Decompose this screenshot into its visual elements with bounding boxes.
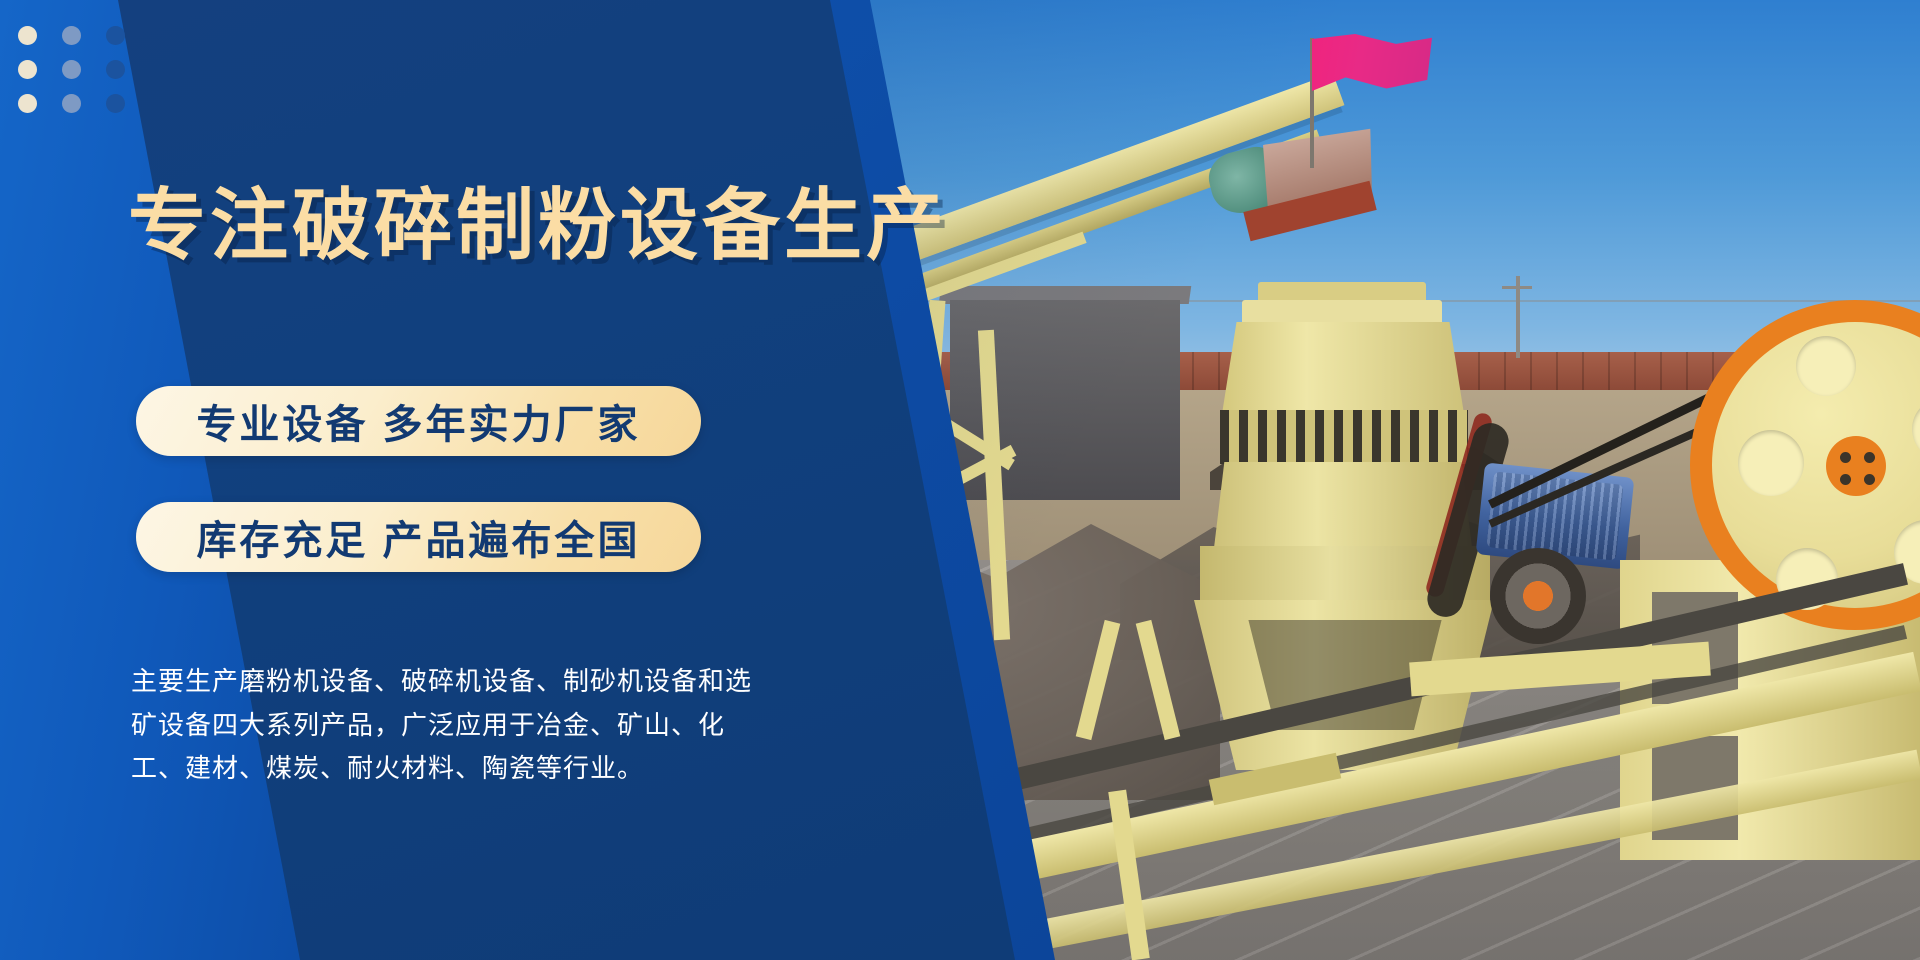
feature-pill-2-label: 库存充足 产品遍布全国: [196, 508, 640, 566]
promo-banner: 专注破碎制粉设备生产 专业设备 多年实力厂家 库存充足 产品遍布全国 主要生产磨…: [0, 0, 1920, 960]
flywheel-hub: [1826, 436, 1886, 496]
flywheel-hole: [1738, 430, 1804, 496]
feature-pill-2[interactable]: 库存充足 产品遍布全国: [136, 502, 701, 572]
cone-crusher-bolt-ring: [1220, 410, 1468, 464]
flywheel-bolt: [1840, 452, 1851, 463]
flywheel-bolt: [1840, 474, 1851, 485]
banner-headline: 专注破碎制粉设备生产: [128, 186, 888, 264]
flywheel-bolt: [1864, 474, 1875, 485]
description-line-2: 矿设备四大系列产品，广泛应用于冶金、矿山、化: [131, 704, 731, 748]
banner-content: 专注破碎制粉设备生产 专业设备 多年实力厂家 库存充足 产品遍布全国 主要生产磨…: [0, 0, 880, 960]
feature-pill-1[interactable]: 专业设备 多年实力厂家: [136, 386, 701, 456]
description-line-1: 主要生产磨粉机设备、破碎机设备、制砂机设备和选: [131, 660, 731, 704]
cone-crusher-upper: [1222, 322, 1464, 414]
power-line: [1502, 286, 1532, 289]
feature-pill-1-label: 专业设备 多年实力厂家: [196, 392, 640, 450]
flywheel-hole: [1796, 336, 1856, 396]
banner-description: 主要生产磨粉机设备、破碎机设备、制砂机设备和选 矿设备四大系列产品，广泛应用于冶…: [131, 660, 731, 791]
motor-pulley: [1490, 548, 1586, 644]
flywheel-bolt: [1864, 452, 1875, 463]
description-line-3: 工、建材、煤炭、耐火材料、陶瓷等行业。: [131, 747, 731, 791]
cone-crusher-mid: [1214, 462, 1472, 548]
